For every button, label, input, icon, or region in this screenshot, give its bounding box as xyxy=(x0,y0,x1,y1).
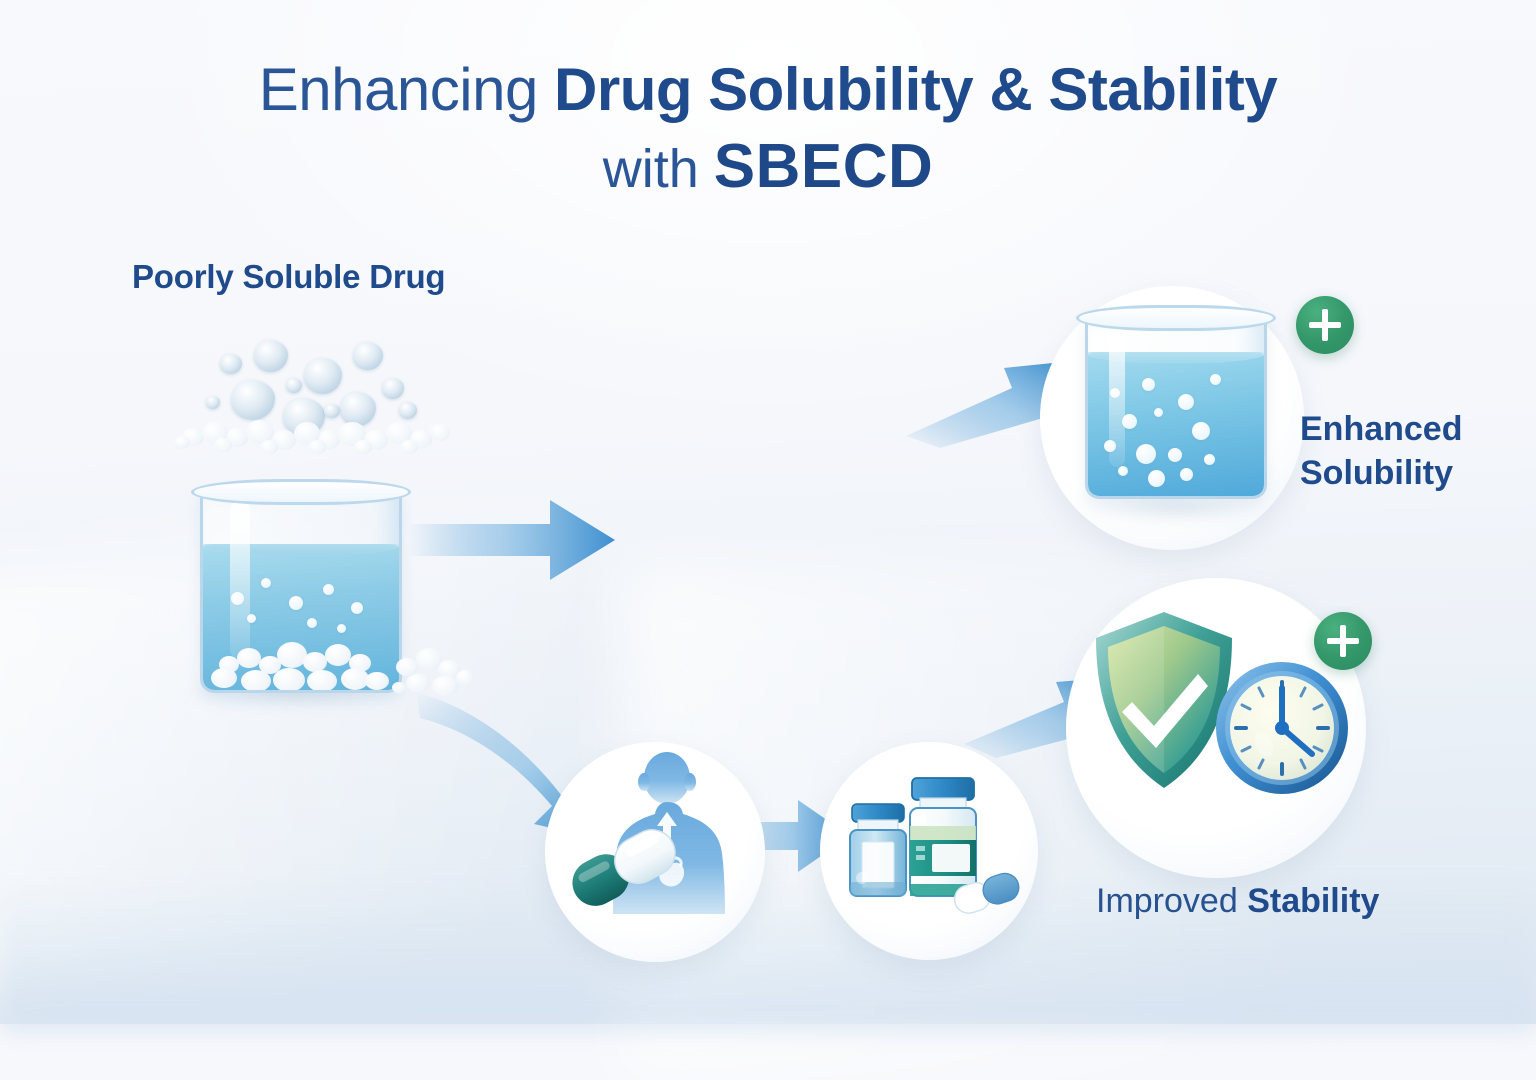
plus-badge-icon xyxy=(1314,612,1372,670)
clock-icon xyxy=(1212,658,1352,798)
title-line2-bold: SBECD xyxy=(714,132,934,201)
label-enhanced-solubility: Enhanced Solubility xyxy=(1300,408,1462,495)
capsule-icon xyxy=(562,818,688,914)
arrow-right-icon xyxy=(400,480,660,600)
infographic-canvas: Enhancing Drug Solubility & Stability wi… xyxy=(0,0,1536,1024)
beaker-with-undissolved-drug-icon xyxy=(200,490,396,690)
title-line1-plain: Enhancing xyxy=(259,56,554,123)
label-improved-bold: Stability xyxy=(1247,882,1379,920)
label-poorly-soluble-drug: Poorly Soluble Drug xyxy=(132,258,445,296)
plus-badge-icon xyxy=(1296,296,1354,354)
page-title: Enhancing Drug Solubility & Stability wi… xyxy=(0,58,1536,201)
label-improved-plain: Improved xyxy=(1096,882,1247,920)
beaker-with-clear-solution-icon xyxy=(1085,316,1261,496)
label-enhanced-line1: Enhanced xyxy=(1300,408,1462,452)
label-enhanced-line2: Solubility xyxy=(1300,452,1462,496)
drug-powder-particles-icon xyxy=(168,336,468,466)
title-line2-plain: with xyxy=(603,139,714,199)
medicine-bottles-icon xyxy=(840,760,1030,940)
title-line1-bold: Drug Solubility & Stability xyxy=(554,56,1277,123)
label-improved-stability: Improved Stability xyxy=(1096,882,1379,921)
